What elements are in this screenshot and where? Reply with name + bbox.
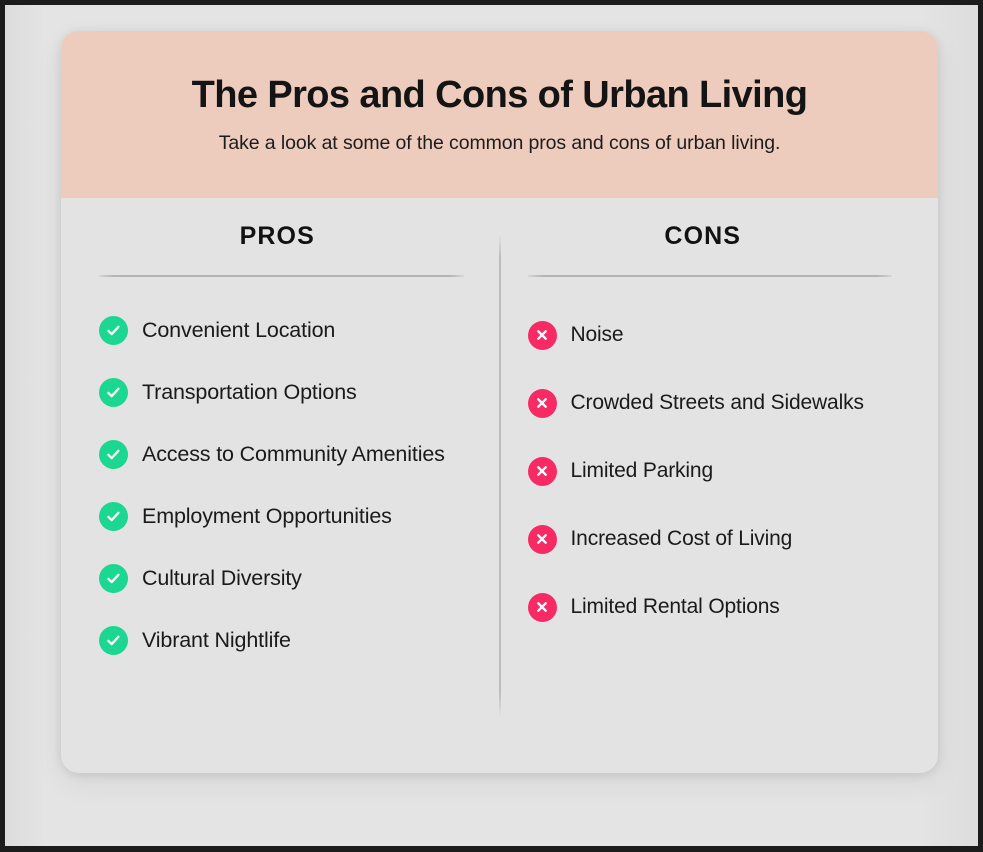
pros-column: PROS Convenient LocationTransportation O…	[61, 198, 472, 773]
list-item-label: Transportation Options	[142, 378, 357, 406]
cons-column-heading: CONS	[528, 224, 901, 249]
list-item-label: Vibrant Nightlife	[142, 626, 291, 654]
list-item: Limited Rental Options	[528, 573, 901, 641]
cons-heading-rule	[528, 275, 893, 277]
page-title: The Pros and Cons of Urban Living	[192, 74, 808, 118]
check-circle-icon	[99, 564, 128, 593]
list-item: Increased Cost of Living	[528, 505, 901, 573]
pros-heading-rule	[99, 275, 464, 277]
x-circle-icon	[528, 525, 557, 554]
pros-list: Convenient LocationTransportation Option…	[99, 299, 472, 671]
list-item-label: Crowded Streets and Sidewalks	[571, 389, 864, 417]
list-item-label: Convenient Location	[142, 316, 335, 344]
list-item: Access to Community Amenities	[99, 423, 472, 485]
column-divider	[499, 234, 501, 717]
list-item-label: Cultural Diversity	[142, 564, 302, 592]
page-frame: The Pros and Cons of Urban Living Take a…	[5, 5, 978, 846]
cons-column: CONS NoiseCrowded Streets and SidewalksL…	[472, 198, 939, 773]
list-item: Vibrant Nightlife	[99, 609, 472, 671]
x-circle-icon	[528, 593, 557, 622]
list-item: Convenient Location	[99, 299, 472, 361]
card-header: The Pros and Cons of Urban Living Take a…	[61, 31, 938, 198]
list-item: Crowded Streets and Sidewalks	[528, 369, 901, 437]
x-circle-icon	[528, 389, 557, 418]
list-item-label: Employment Opportunities	[142, 502, 392, 530]
list-item-label: Access to Community Amenities	[142, 440, 445, 468]
check-circle-icon	[99, 440, 128, 469]
list-item-label: Increased Cost of Living	[571, 525, 793, 553]
x-circle-icon	[528, 457, 557, 486]
list-item: Employment Opportunities	[99, 485, 472, 547]
list-item-label: Limited Rental Options	[571, 593, 780, 621]
check-circle-icon	[99, 626, 128, 655]
card-body: PROS Convenient LocationTransportation O…	[61, 198, 938, 773]
x-circle-icon	[528, 321, 557, 350]
check-circle-icon	[99, 502, 128, 531]
check-circle-icon	[99, 378, 128, 407]
pros-column-heading: PROS	[99, 224, 472, 249]
pros-and-cons-card: The Pros and Cons of Urban Living Take a…	[61, 31, 938, 773]
list-item: Cultural Diversity	[99, 547, 472, 609]
check-circle-icon	[99, 316, 128, 345]
list-item-label: Limited Parking	[571, 457, 713, 485]
page-subtitle: Take a look at some of the common pros a…	[219, 132, 781, 155]
list-item-label: Noise	[571, 321, 624, 349]
list-item: Transportation Options	[99, 361, 472, 423]
list-item: Limited Parking	[528, 437, 901, 505]
list-item: Noise	[528, 301, 901, 369]
cons-list: NoiseCrowded Streets and SidewalksLimite…	[528, 301, 901, 641]
